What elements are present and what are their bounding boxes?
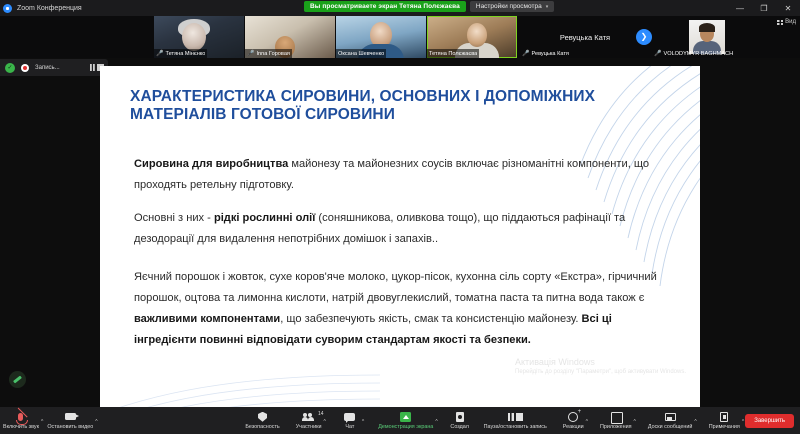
- camera-icon: [65, 413, 76, 420]
- mute-toggle-label: Включить звук: [3, 424, 39, 430]
- video-tile-no-video[interactable]: Ревуцька Катя 🎤 Ревуцька Катя: [520, 16, 650, 58]
- meeting-controls-toolbar: Включить звук ^ Остановить видео ^ Безоп…: [0, 407, 800, 434]
- chat-icon: [344, 413, 355, 421]
- slide-text-run: , що забезпечують якість, смак та консис…: [280, 313, 581, 325]
- pen-annotate-icon[interactable]: [9, 371, 26, 388]
- reactions-button[interactable]: Реакции: [560, 407, 587, 434]
- participant-name-bar: 🎤 Inna Горовая: [245, 49, 292, 58]
- window-controls: — ❐ ✕: [728, 0, 800, 16]
- slide-title: ХАРАКТЕРИСТИКА СИРОВИНИ, ОСНОВНИХ І ДОПО…: [130, 88, 660, 125]
- participants-button[interactable]: Участники 14: [293, 407, 325, 434]
- participant-name: Тетяна Полєжаєва: [429, 51, 477, 57]
- avatar: [467, 23, 487, 47]
- video-tile[interactable]: 🎤 Тетяна Мінєнко: [154, 16, 244, 58]
- record-doc-icon: [456, 412, 464, 422]
- participant-name-bar: 🎤 Ревуцька Катя: [520, 49, 571, 58]
- slide-text-run: Яєчний порошок і жовток, сухе коров'яче …: [134, 271, 657, 304]
- close-icon[interactable]: ✕: [776, 0, 800, 16]
- chat-label: Чат: [345, 424, 354, 430]
- video-toggle-button[interactable]: Остановить видео: [44, 407, 96, 434]
- chevron-down-icon: ▾: [546, 4, 549, 10]
- avatar: [182, 23, 206, 51]
- created-label: Создал: [450, 424, 468, 430]
- slide-paragraph: Сировина для виробництва майонезу та май…: [134, 154, 674, 196]
- view-layout-button[interactable]: Вид: [777, 19, 796, 25]
- title-bar: Zoom Конференция Вы просматриваете экран…: [0, 0, 800, 16]
- windows-activation-subtitle: Перейдіть до розділу "Параметри", щоб ак…: [515, 369, 686, 375]
- muted-mic-icon: 🎤: [247, 51, 254, 57]
- slide-text-run: важливими компонентами: [134, 313, 280, 325]
- end-meeting-button[interactable]: Завершить: [745, 414, 794, 428]
- video-toggle-label: Остановить видео: [47, 424, 93, 430]
- muted-mic-icon: 🎤: [654, 50, 661, 57]
- apps-icon: [611, 412, 621, 422]
- participant-name-bar: Тетяна Полєжаєва: [427, 49, 479, 58]
- apps-label: Приложения: [600, 424, 632, 430]
- notes-icon: [720, 412, 728, 422]
- participants-count: 14: [318, 411, 324, 417]
- muted-mic-icon: 🎤: [522, 50, 529, 57]
- record-dot-icon[interactable]: [21, 64, 29, 72]
- participant-name-bar: Оксана Шевченко: [336, 49, 386, 58]
- maximize-button[interactable]: ❐: [752, 0, 776, 16]
- shield-check-icon[interactable]: ✓: [5, 63, 15, 73]
- slide-body-text: Сировина для виробництва майонезу та май…: [134, 154, 674, 363]
- created-button[interactable]: Создал: [447, 407, 473, 434]
- slide-text-run: Основні з них -: [134, 212, 214, 224]
- pause-stop-icon: [508, 413, 523, 421]
- mic-muted-icon: [18, 413, 23, 421]
- slide-paragraph: Основні з них - рідкі рослинні олії (сон…: [134, 208, 674, 250]
- security-button[interactable]: Безопасность: [242, 407, 282, 434]
- participant-name: Оксана Шевченко: [338, 51, 384, 57]
- participant-display-name: Ревуцька Катя: [560, 33, 610, 42]
- video-tile[interactable]: Оксана Шевченко: [336, 16, 426, 58]
- participant-name-bar: 🎤 VOLODYMYR BAGHMACH: [652, 49, 735, 58]
- shared-slide-content: ХАРАКТЕРИСТИКА СИРОВИНИ, ОСНОВНИХ І ДОПО…: [100, 66, 700, 407]
- apps-button[interactable]: Приложения: [597, 407, 635, 434]
- reactions-icon: [568, 412, 578, 422]
- minimize-button[interactable]: —: [728, 0, 752, 16]
- grid-view-icon: [777, 20, 783, 25]
- screen-share-status: Вы просматриваете экран Тетяна Полєжаєва…: [304, 1, 554, 12]
- recording-toolbar: ✓ Запись...: [0, 59, 108, 76]
- video-tile-avatar[interactable]: 🎤 VOLODYMYR BAGHMACH: [652, 16, 762, 58]
- participant-name: Ревуцька Катя: [531, 51, 568, 57]
- participant-name: Inna Горовая: [256, 51, 289, 57]
- video-thumbnail-strip: 🎤 Тетяна Мінєнко 🎤 Inna Горовая Оксана Ш…: [0, 16, 800, 58]
- share-screen-button[interactable]: Демонстрация экрана: [375, 407, 436, 434]
- participants-label: Участники: [296, 424, 322, 430]
- zoom-meeting-window: Zoom Конференция Вы просматриваете экран…: [0, 0, 800, 434]
- sharing-banner: Вы просматриваете экран Тетяна Полєжаєва: [304, 1, 466, 12]
- video-tile[interactable]: 🎤 Inna Горовая: [245, 16, 335, 58]
- mute-toggle-button[interactable]: Включить звук: [0, 407, 42, 434]
- pause-stop-recording-button[interactable]: Пауза/остановить запись: [481, 407, 550, 434]
- reactions-label: Реакции: [563, 424, 584, 430]
- slide-paragraph: Яєчний порошок і жовток, сухе коров'яче …: [134, 267, 674, 350]
- share-screen-icon: [400, 412, 411, 422]
- zoom-logo-icon: [3, 4, 12, 13]
- pause-stop-recording-label: Пауза/остановить запись: [484, 424, 547, 430]
- participant-name: Тетяна Мінєнко: [165, 51, 205, 57]
- view-options-button[interactable]: Настройки просмотра ▾: [470, 1, 554, 12]
- whiteboard-button[interactable]: Доски сообщений: [645, 407, 695, 434]
- next-participants-button[interactable]: ❯: [636, 29, 652, 45]
- slide-text-run: Сировина для виробництва: [134, 158, 288, 170]
- app-title: Zoom Конференция: [17, 5, 82, 12]
- video-tile-active-speaker[interactable]: Тетяна Полєжаєва: [427, 16, 517, 58]
- whiteboard-label: Доски сообщений: [648, 424, 692, 430]
- pause-icon[interactable]: [90, 64, 95, 71]
- security-label: Безопасность: [245, 424, 279, 430]
- people-icon: [302, 413, 315, 421]
- share-screen-label: Демонстрация экрана: [378, 424, 433, 430]
- chat-button[interactable]: Чат: [337, 407, 363, 434]
- slide-text-run: рідкі рослинні олії: [214, 212, 315, 224]
- participant-name-bar: 🎤 Тетяна Мінєнко: [154, 49, 207, 58]
- view-layout-label: Вид: [785, 19, 796, 25]
- view-options-label: Настройки просмотра: [476, 3, 542, 10]
- muted-mic-icon: 🎤: [156, 51, 163, 57]
- notes-button[interactable]: Примечания: [706, 407, 743, 434]
- recording-status-label: Запись...: [35, 65, 60, 71]
- participant-name: VOLODYMYR BAGHMACH: [663, 51, 733, 57]
- shield-icon: [258, 412, 267, 422]
- notes-label: Примечания: [709, 424, 740, 430]
- whiteboard-icon: [665, 413, 676, 421]
